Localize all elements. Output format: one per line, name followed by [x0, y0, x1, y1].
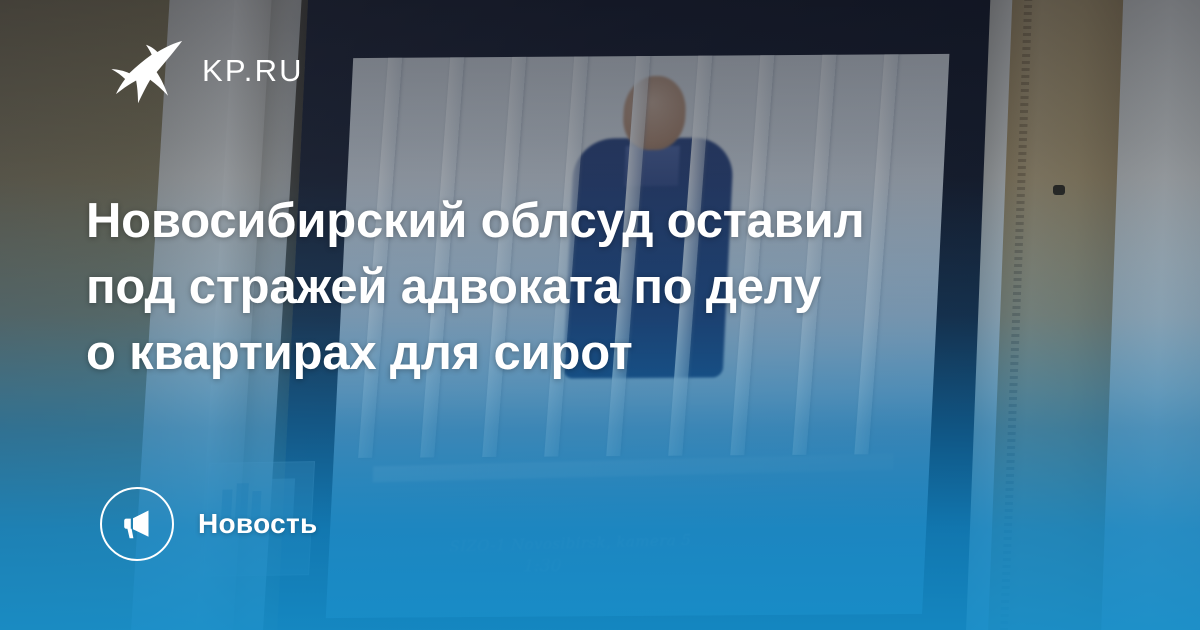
badge-label: Новость	[198, 508, 318, 540]
page-title: Новосибирский облсуд оставил под стражей…	[86, 188, 1026, 386]
megaphone-icon	[100, 487, 174, 561]
brand-name: KP.RU	[202, 53, 304, 89]
share-card: SIZO-1 Novosibirsk, kamera 5 1:30 KP.RU …	[0, 0, 1200, 630]
headline-line-2: под стражей адвоката по делу	[86, 260, 821, 314]
swallow-bird-icon	[108, 36, 184, 106]
status-badge[interactable]: Новость	[100, 487, 318, 561]
brand-logo[interactable]: KP.RU	[108, 36, 304, 106]
card-content: KP.RU Новосибирский облсуд оставил под с…	[0, 0, 1200, 630]
headline-line-3: о квартирах для сирот	[86, 326, 633, 380]
headline-line-1: Новосибирский облсуд оставил	[86, 194, 864, 248]
